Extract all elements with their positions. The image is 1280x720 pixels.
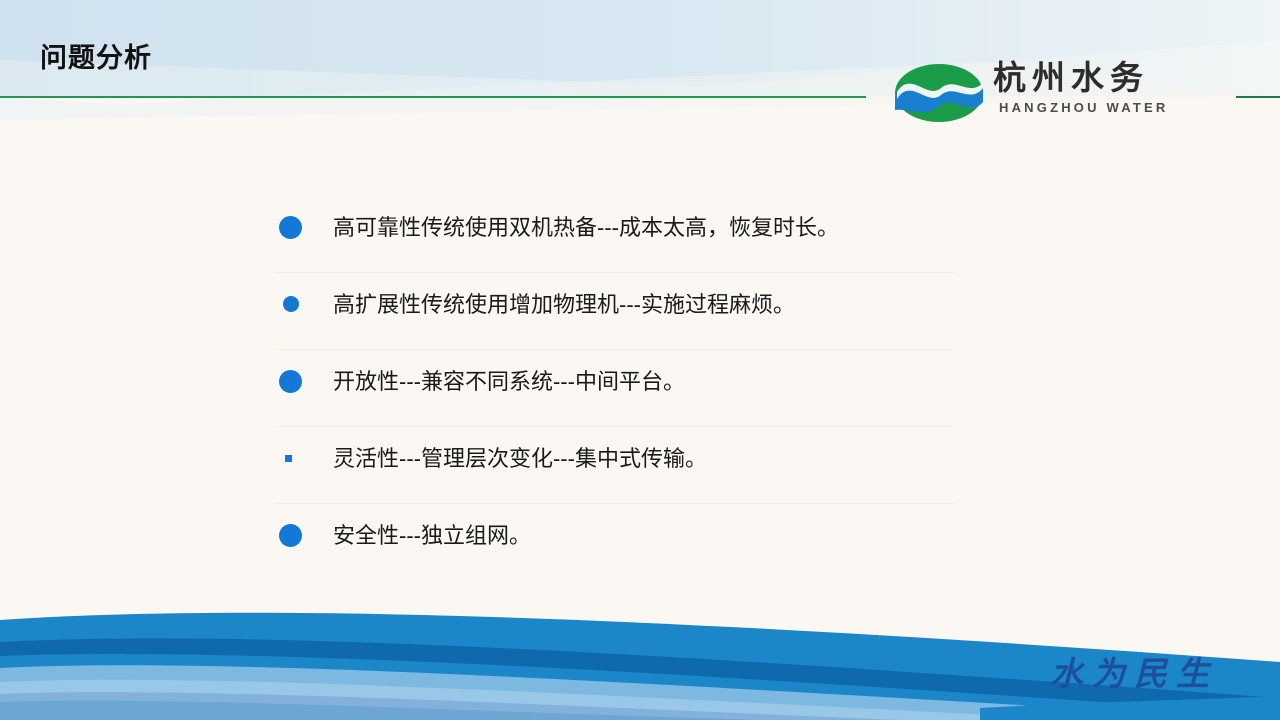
list-item-label: 安全性---独立组网。 — [333, 520, 531, 552]
footer-slogan: 水为民生 — [1050, 659, 1218, 692]
water-wave-emblem-icon — [893, 62, 985, 124]
bullet-circle-icon — [279, 524, 302, 547]
list-item: 灵活性---管理层次变化---集中式传输。 — [275, 427, 955, 504]
bullet-list: 高可靠性传统使用双机热备---成本太高，恢复时长。 高扩展性传统使用增加物理机-… — [275, 196, 955, 580]
page-title: 问题分析 — [40, 45, 152, 72]
list-item: 高可靠性传统使用双机热备---成本太高，恢复时长。 — [275, 196, 955, 273]
list-item: 高扩展性传统使用增加物理机---实施过程麻烦。 — [275, 273, 955, 350]
bullet-circle-icon — [283, 296, 299, 312]
bullet-square-icon — [285, 455, 292, 462]
list-item-label: 开放性---兼容不同系统---中间平台。 — [333, 366, 685, 398]
presentation-slide: 问题分析 杭州水务 HANGZHOU WATER 高可靠性传统使用双机热备---… — [0, 0, 1280, 720]
header-divider-left — [0, 96, 866, 98]
list-item: 开放性---兼容不同系统---中间平台。 — [275, 350, 955, 427]
bullet-circle-icon — [279, 216, 302, 239]
list-item: 安全性---独立组网。 — [275, 504, 955, 580]
header-divider-right — [1236, 96, 1280, 98]
list-item-label: 高扩展性传统使用增加物理机---实施过程麻烦。 — [333, 289, 795, 321]
brand-name-cn: 杭州水务 — [993, 58, 1213, 98]
list-item-label: 灵活性---管理层次变化---集中式传输。 — [333, 443, 707, 475]
brand-name-en: HANGZHOU WATER — [999, 100, 1213, 116]
bullet-circle-icon — [279, 370, 302, 393]
list-item-label: 高可靠性传统使用双机热备---成本太高，恢复时长。 — [333, 212, 839, 244]
brand-logo-text: 杭州水务 HANGZHOU WATER — [993, 58, 1213, 116]
brand-logo: 杭州水务 HANGZHOU WATER — [893, 58, 1213, 130]
footer-wave-decoration — [0, 590, 1280, 720]
